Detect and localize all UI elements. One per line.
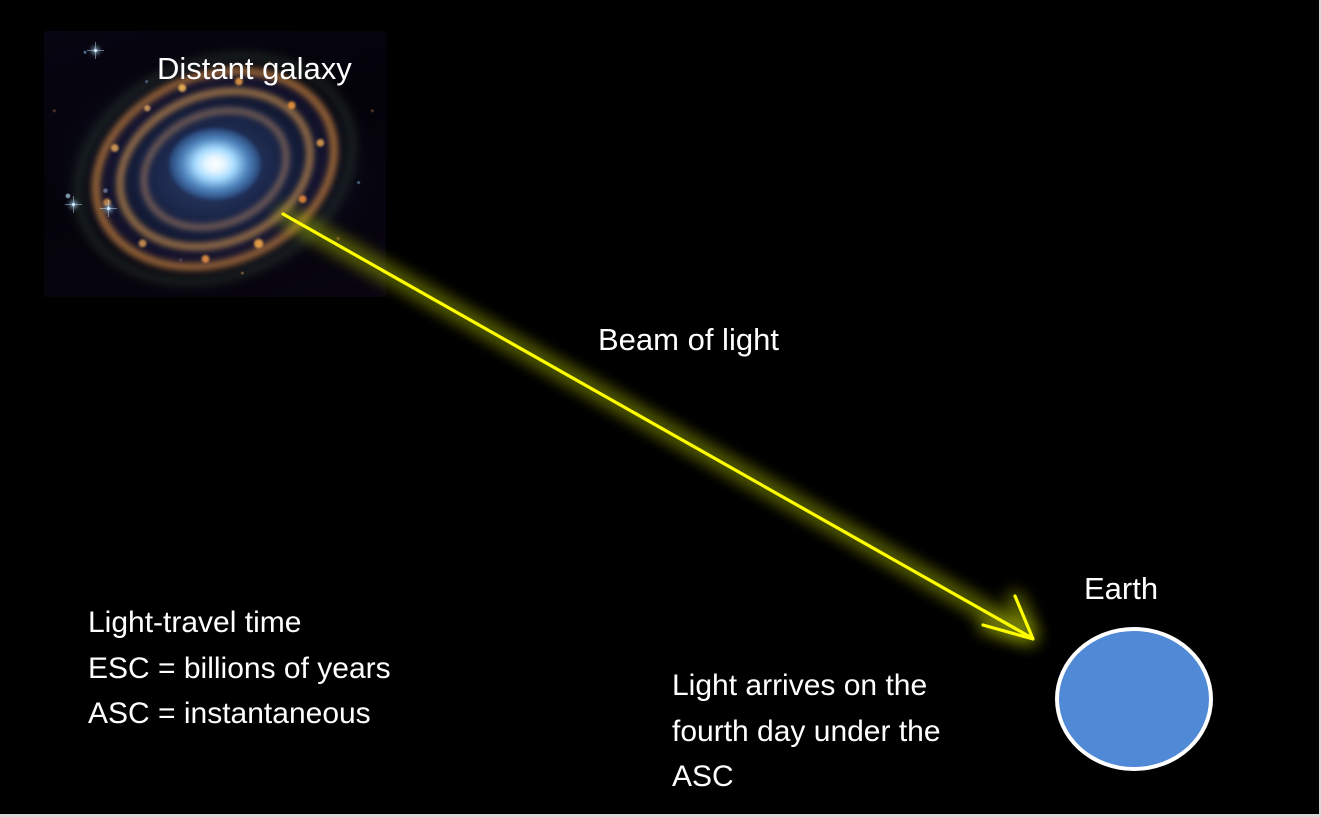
slide-canvas: Distant galaxy Beam of light Earth Light… bbox=[0, 0, 1321, 817]
beam-of-light-label: Beam of light bbox=[598, 321, 779, 359]
foreground-star bbox=[94, 49, 97, 52]
beam-glow-arrowhead bbox=[984, 597, 1032, 638]
earth-label: Earth bbox=[1084, 570, 1158, 608]
earth-circle bbox=[1055, 627, 1213, 771]
distant-galaxy-label: Distant galaxy bbox=[157, 50, 352, 88]
light-travel-line-3: ASC = instantaneous bbox=[88, 691, 391, 737]
galaxy-core bbox=[169, 128, 261, 200]
beam-core-line bbox=[283, 214, 1032, 638]
light-travel-line-2: ESC = billions of years bbox=[88, 646, 391, 692]
foreground-star bbox=[72, 203, 75, 206]
foreground-star bbox=[107, 207, 110, 210]
beam-arrowhead bbox=[983, 596, 1033, 639]
beam-glow-line bbox=[283, 214, 1030, 636]
light-travel-line-1: Light-travel time bbox=[88, 600, 391, 646]
light-arrival-note: Light arrives on the fourth day under th… bbox=[672, 663, 1008, 800]
light-travel-time-note: Light-travel time ESC = billions of year… bbox=[88, 600, 391, 737]
